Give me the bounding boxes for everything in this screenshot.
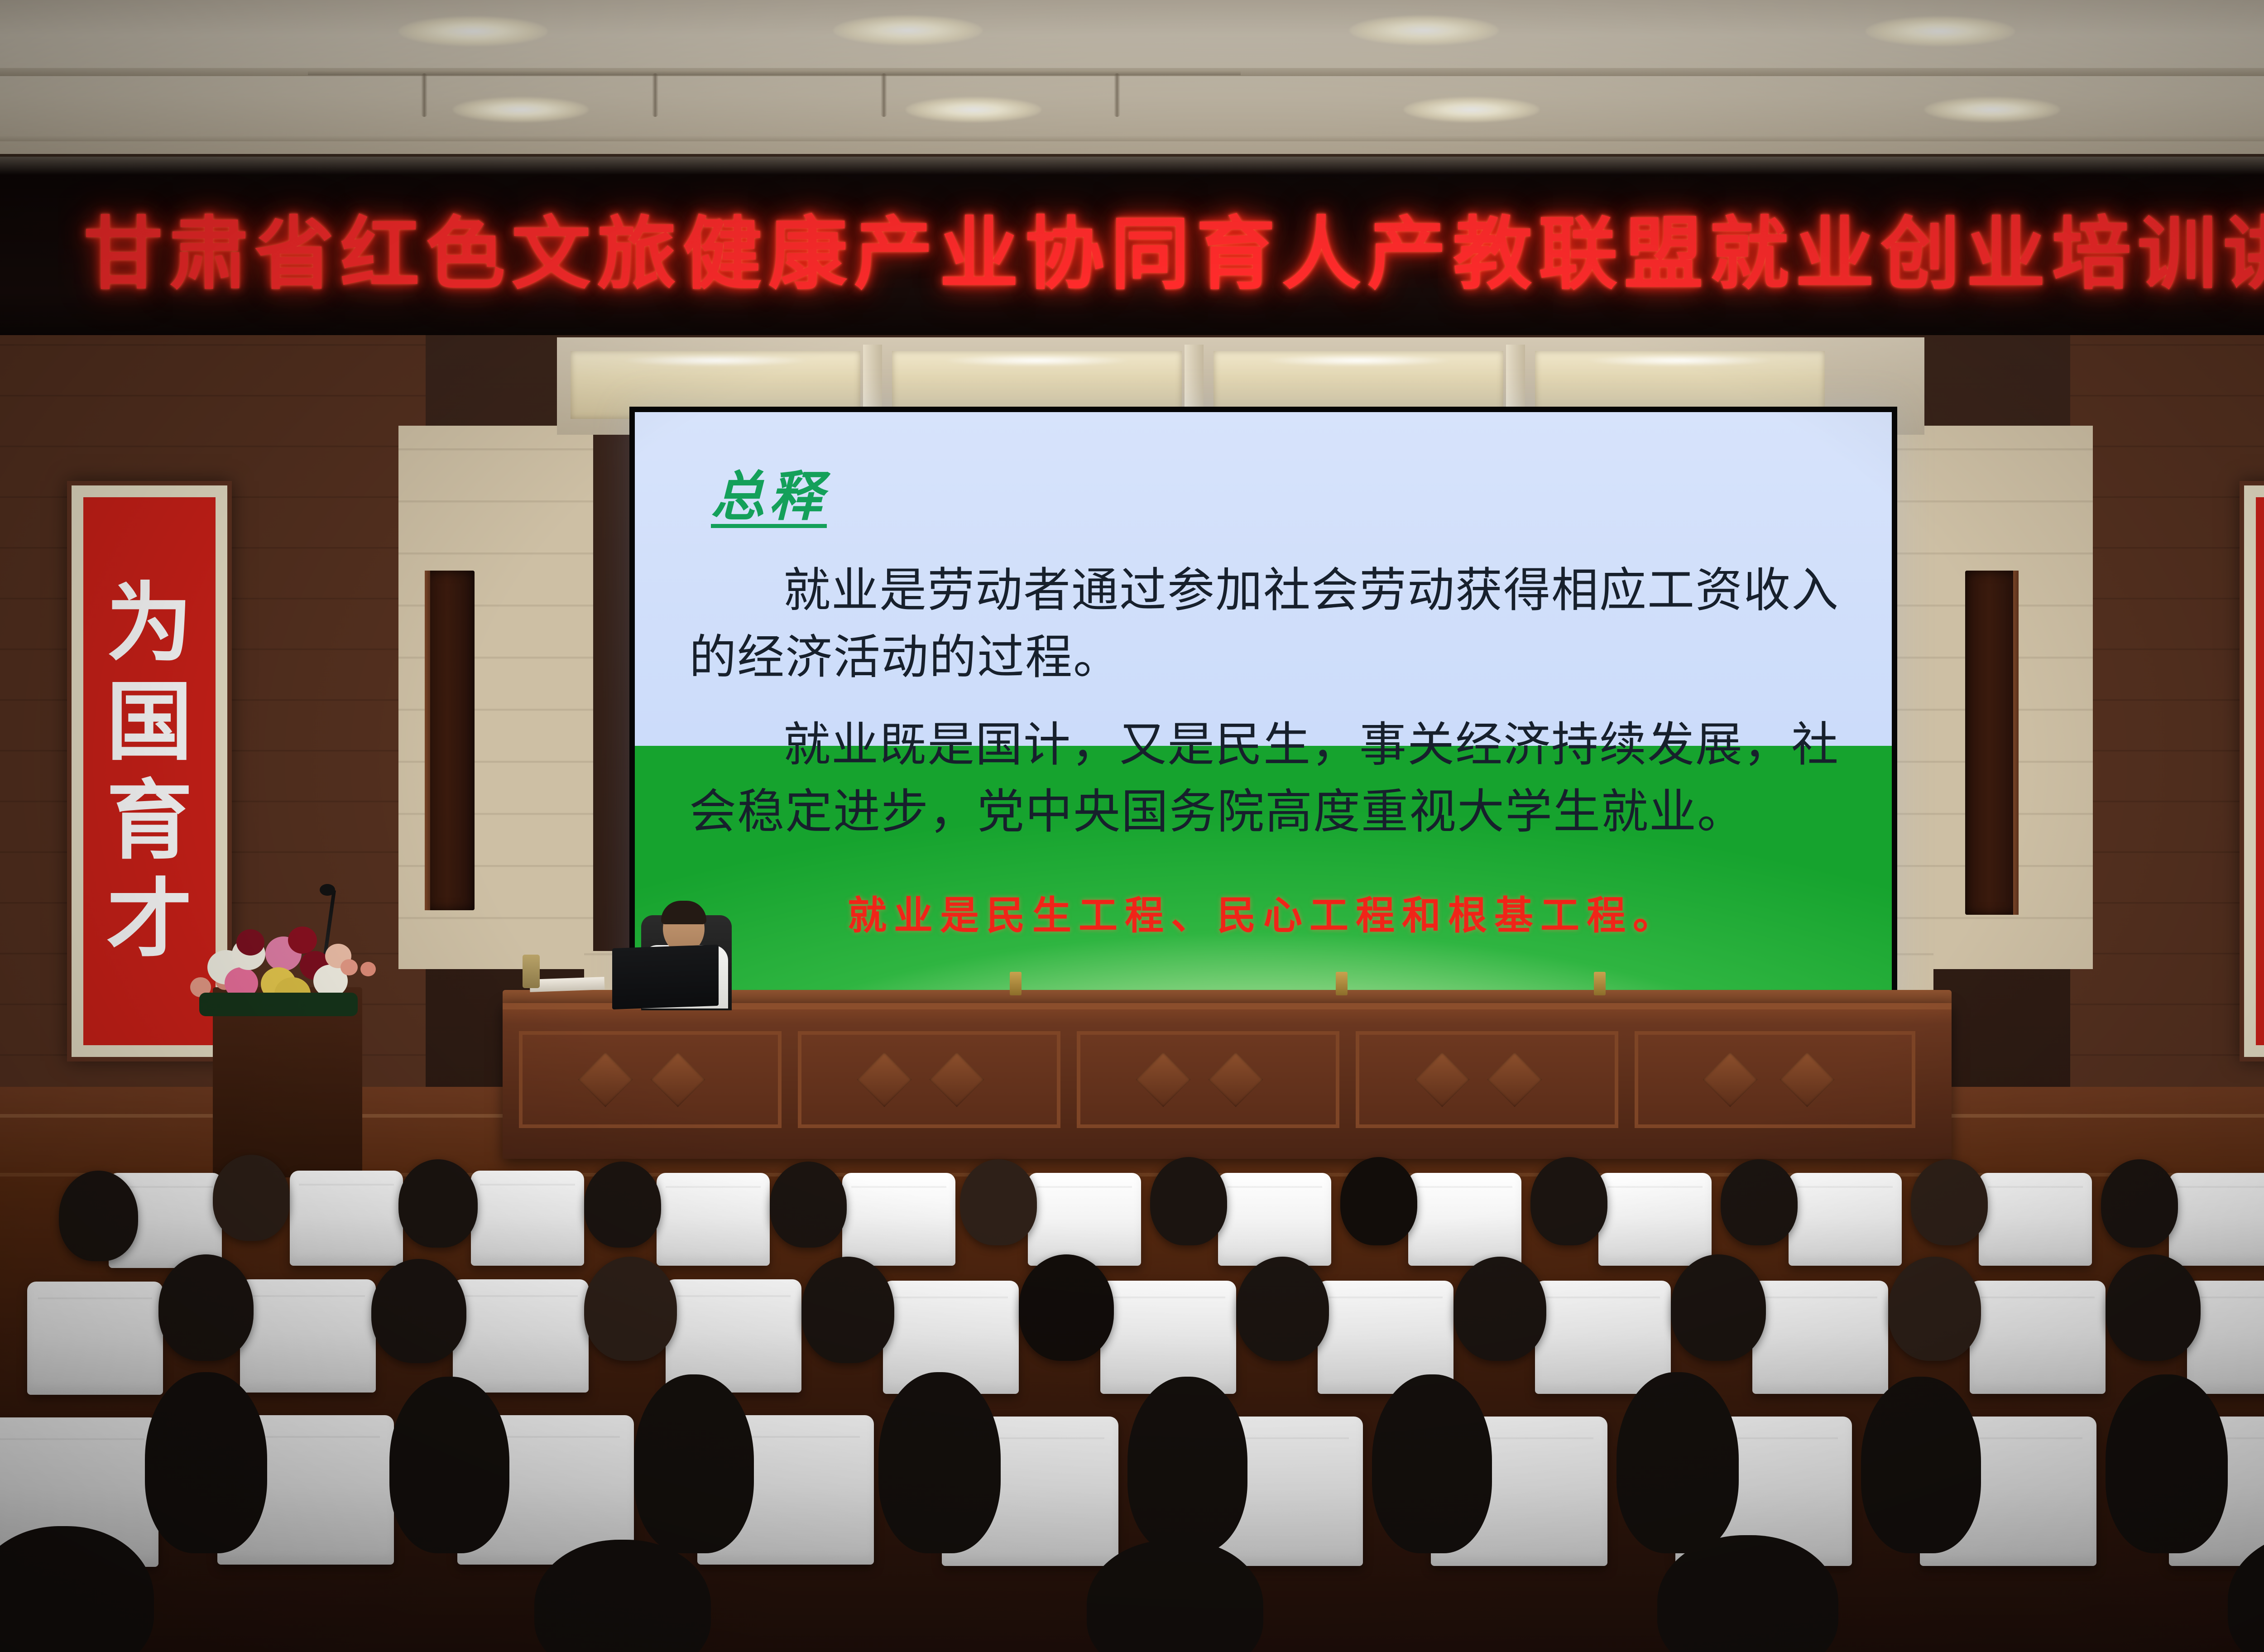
ceiling-spotlight [453, 97, 589, 122]
audience-head [2101, 1159, 2178, 1248]
slide-accent-text: 就业是民生工程、民心工程和根基工程。 [635, 884, 1892, 940]
ceiling-hanger [421, 73, 427, 117]
audience-head [1721, 1159, 1798, 1245]
slide-paragraph: 就业既是国计，又是民生，事关经济持续发展，社会稳定进步，党中央国务院高度重视大学… [689, 711, 1851, 845]
audience-chair [2169, 1173, 2264, 1266]
ceiling-spotlight [398, 16, 548, 46]
ceiling-spotlight [1924, 97, 2060, 122]
audience-chair [1100, 1281, 1236, 1394]
audience-head [398, 1159, 478, 1248]
stage-panel [519, 1031, 782, 1128]
audience-head [1127, 1377, 1247, 1553]
stage-panel [798, 1031, 1060, 1128]
audience-head [158, 1254, 254, 1361]
slide-paragraph: 就业是劳动者通过参加社会劳动获得相应工资收入的经济活动的过程。 [689, 557, 1851, 691]
audience-head [2106, 1374, 2228, 1553]
audience-chair [1970, 1281, 2106, 1394]
audience-head [878, 1372, 1001, 1553]
ceiling-hanger [1114, 73, 1120, 117]
audience-head [1888, 1257, 1981, 1361]
ceiling-hanger [652, 73, 658, 117]
audience-head [59, 1171, 138, 1261]
banner-left-char: 为 [106, 580, 192, 666]
audience-head [634, 1374, 754, 1553]
slide-title: 总释 [711, 453, 827, 530]
lecture-hall-scene: 甘肃省红色文旅健康产业协同育人产教联盟就业创业培训讲座 为 [0, 0, 2264, 1652]
papers [530, 977, 605, 992]
audience-head [584, 1257, 677, 1361]
audience-head [1340, 1157, 1417, 1245]
audience-head [389, 1377, 509, 1553]
desk-nameplate-holder [1594, 972, 1606, 995]
audience-head [1372, 1374, 1492, 1553]
led-banner-title: 甘肃省红色文旅健康产业协同育人产教联盟就业创业培训讲座 [0, 190, 2264, 305]
stage-panel [1635, 1031, 1915, 1128]
stage-panel [1356, 1031, 1618, 1128]
audience-chair [27, 1282, 163, 1395]
projection-screen: 总释 就业是劳动者通过参加社会劳动获得相应工资收入的经济活动的过程。 就业既是国… [629, 407, 1897, 1013]
audience-chair [657, 1173, 770, 1266]
audience-chair [1218, 1173, 1331, 1266]
microphone-icon [320, 884, 335, 896]
audience-head [2106, 1254, 2201, 1361]
audience-chair [1752, 1281, 1888, 1394]
desk-nameplate-holder [1336, 972, 1348, 995]
audience-head [145, 1372, 267, 1553]
audience-head [1671, 1254, 1766, 1361]
banner-left-char: 才 [106, 876, 192, 962]
audience-chair [290, 1171, 403, 1266]
ceiling-hanger [881, 73, 887, 117]
audience-chair [471, 1171, 584, 1266]
audience-head [960, 1159, 1037, 1245]
laptop-icon [612, 945, 719, 1009]
audience-chair [1979, 1173, 2092, 1266]
banner-left-char: 国 [106, 679, 192, 765]
audience-head [1530, 1157, 1607, 1245]
audience-head [1453, 1257, 1546, 1361]
ceiling-spotlight [1866, 16, 2015, 46]
presentation-slide: 总释 就业是劳动者通过参加社会劳动获得相应工资收入的经济活动的过程。 就业既是国… [635, 412, 1892, 1008]
stage-front-panel [503, 1003, 1952, 1159]
banner-left-char: 育 [106, 778, 192, 864]
ceiling-spotlight [906, 97, 1041, 122]
ceiling-spotlight [1404, 97, 1540, 122]
audience-head [213, 1155, 290, 1241]
ceiling-spotlight [833, 15, 983, 45]
desk-nameplate-holder [1010, 972, 1022, 995]
audience-head [801, 1257, 894, 1363]
speaker-hair [661, 901, 706, 924]
audience-chair [842, 1173, 955, 1266]
audience-head [1861, 1377, 1981, 1553]
wall-recess-right [1965, 571, 2019, 915]
audience-head [584, 1162, 661, 1248]
audience-chair [1408, 1173, 1521, 1266]
audience-chair [453, 1279, 589, 1393]
stage-panel [1077, 1031, 1339, 1128]
audience-chair [1028, 1173, 1141, 1266]
ceiling-spotlight [1349, 15, 1499, 45]
banner-right: 为 党 育 人 [2240, 481, 2264, 1061]
audience-chair [240, 1279, 376, 1393]
audience-chair [1789, 1173, 1902, 1266]
audience-head [1236, 1257, 1329, 1361]
wall-recess-left [425, 571, 475, 910]
led-banner: 甘肃省红色文旅健康产业协同育人产教联盟就业创业培训讲座 [0, 154, 2264, 341]
audience-chair [1598, 1173, 1712, 1266]
wall-wood-right [2070, 335, 2264, 1105]
audience-head [1911, 1159, 1988, 1245]
slide-body: 就业是劳动者通过参加社会劳动获得相应工资收入的经济活动的过程。 就业既是国计，又… [689, 557, 1851, 866]
audience-head [1616, 1372, 1739, 1553]
cup [523, 955, 540, 988]
audience-head [1019, 1254, 1114, 1361]
audience-head [1150, 1157, 1227, 1245]
ceiling [0, 0, 2264, 159]
audience-head [371, 1259, 466, 1363]
floral-arrangement [181, 924, 394, 1019]
audience-head [770, 1162, 847, 1248]
audience-chair [1535, 1281, 1671, 1394]
